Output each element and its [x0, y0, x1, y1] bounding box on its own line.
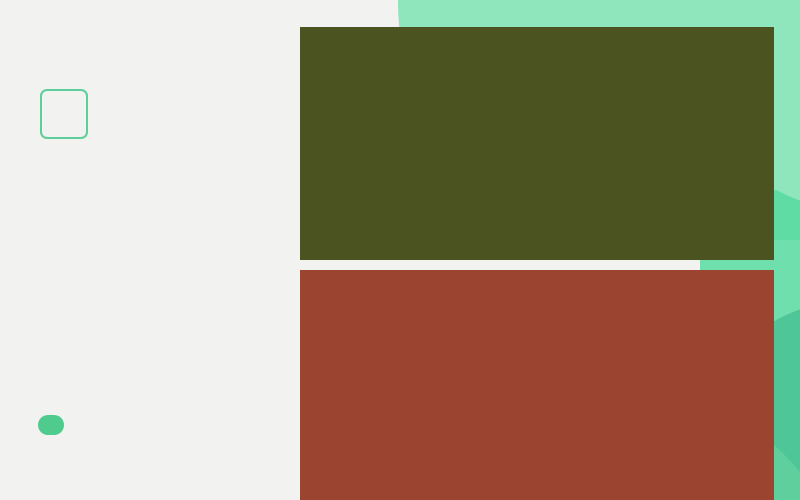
adobe-illustrator-badge — [40, 89, 88, 139]
orange-hexagon-halftone-graphic — [300, 270, 774, 500]
poster-canvas — [0, 0, 800, 500]
preview-orange-hexagon — [300, 270, 774, 500]
volume-badge — [38, 415, 64, 435]
info-column — [0, 0, 300, 500]
preview-green-hexagon — [300, 27, 774, 260]
green-hexagon-halftone-graphic — [300, 27, 774, 260]
